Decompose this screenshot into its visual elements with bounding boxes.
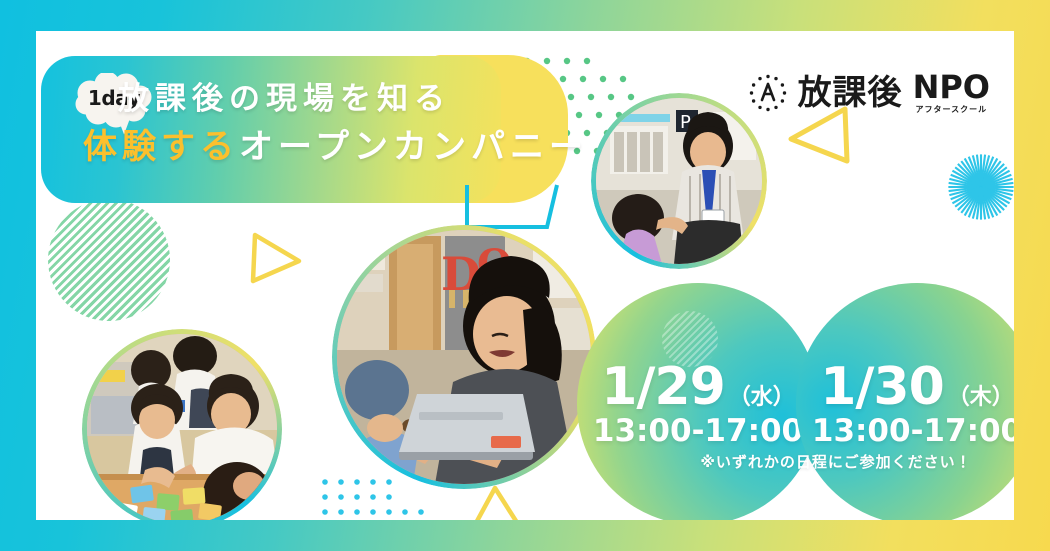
date-1-value: 1/29 bbox=[601, 357, 725, 417]
date-2-value: 1/30 bbox=[820, 357, 944, 417]
date-2-time: 13:00-17:00 bbox=[796, 413, 1014, 449]
photo-staff-talking-with-child: P bbox=[591, 93, 767, 269]
logo-npo-subtext: アフタースクール bbox=[915, 106, 987, 114]
promo-banner: 1day 放課後の現場を知る 体験するオープンカンパニー 放課後 bbox=[0, 0, 1050, 551]
brand-logo: 放課後 NPO アフタースクール bbox=[748, 71, 990, 114]
triangle-right-icon bbox=[241, 227, 303, 289]
photo-image bbox=[87, 334, 277, 520]
inner-white-panel: 1day 放課後の現場を知る 体験するオープンカンパニー 放課後 bbox=[36, 31, 1014, 520]
one-day-badge: 1day bbox=[74, 73, 154, 135]
date-2-weekday: （木） bbox=[948, 379, 1014, 411]
date-circle-2: 1/30 （木） 13:00-17:00 bbox=[796, 283, 1014, 520]
logo-npo-block: NPO アフタースクール bbox=[913, 71, 990, 114]
logo-jp-text: 放課後 bbox=[798, 76, 903, 110]
date-1-weekday: （水） bbox=[729, 379, 795, 411]
photo-image: P bbox=[596, 98, 762, 264]
clock-burst-icon bbox=[748, 73, 788, 113]
photo-staff-with-child-at-laptop: D O bbox=[332, 225, 596, 489]
photo-image: D O bbox=[337, 230, 591, 484]
photo-children-playing-cards bbox=[82, 329, 282, 520]
one-day-badge-label: 1day bbox=[74, 73, 154, 123]
date-2-headline: 1/30 （木） bbox=[796, 357, 1014, 417]
participation-note: ※いずれかの日程にご参加ください！ bbox=[636, 451, 1014, 472]
logo-npo-text: NPO bbox=[913, 71, 990, 103]
cyan-dot-grid-icon bbox=[317, 476, 437, 520]
sunburst-icon bbox=[947, 153, 1014, 221]
date-1-headline: 1/29 （水） bbox=[577, 357, 819, 417]
striped-circle-decoration bbox=[48, 199, 170, 321]
striped-accent-decoration bbox=[662, 311, 718, 367]
date-1-time: 13:00-17:00 bbox=[577, 413, 819, 449]
